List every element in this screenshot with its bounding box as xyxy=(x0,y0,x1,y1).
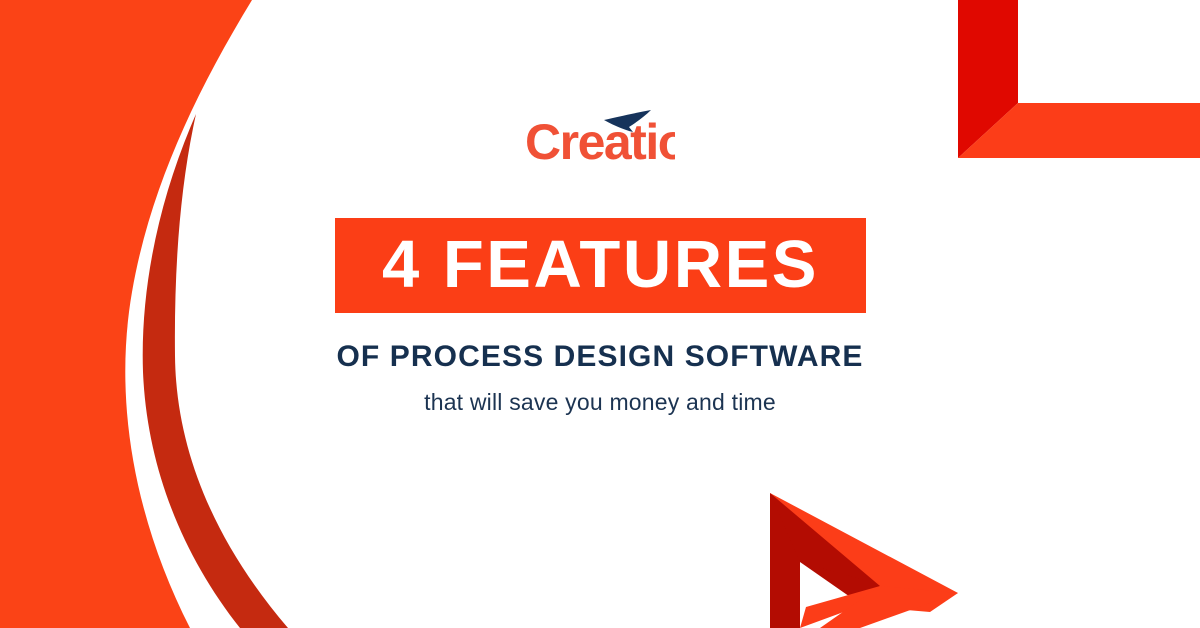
logo-container: Creatio xyxy=(0,106,1200,168)
headline-text: 4 FEATURES xyxy=(382,231,819,301)
banner-content: Creatio 4 FEATURES OF PROCESS DESIGN SOF… xyxy=(0,0,1200,628)
headline-banner: 4 FEATURES xyxy=(335,218,866,313)
tagline-text: that will save you money and time xyxy=(0,389,1200,416)
svg-text:Creatio: Creatio xyxy=(525,114,675,166)
promo-banner: Creatio 4 FEATURES OF PROCESS DESIGN SOF… xyxy=(0,0,1200,628)
creatio-logo: Creatio xyxy=(525,108,675,166)
subheading-text: OF PROCESS DESIGN SOFTWARE xyxy=(0,340,1200,374)
creatio-wordmark: Creatio xyxy=(525,114,675,166)
